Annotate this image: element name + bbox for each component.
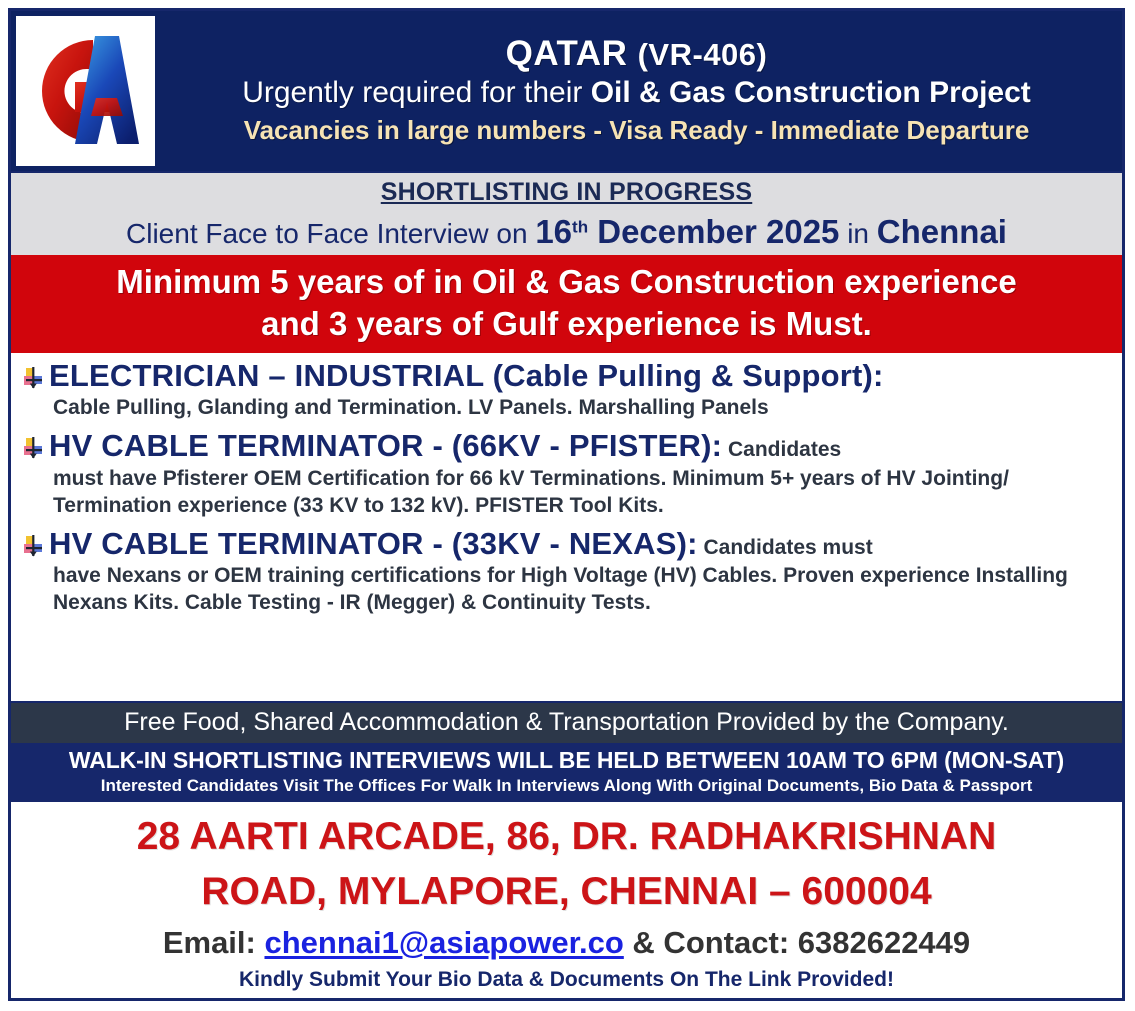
- phone-number: 6382622449: [798, 925, 970, 960]
- shortlisting-status: SHORTLISTING IN PROGRESS: [11, 178, 1122, 207]
- submission-tagline: Kindly Submit Your Bio Data & Documents …: [19, 967, 1114, 992]
- job-title-suffix: Candidates must: [698, 536, 873, 559]
- interview-in-word: in: [839, 218, 876, 249]
- email-link[interactable]: chennai1@asiapower.co: [264, 925, 623, 960]
- job-heading: HV CABLE TERMINATOR - (66KV - PFISTER): …: [23, 428, 1110, 465]
- header-text-block: QATAR (VR-406) Urgently required for the…: [161, 11, 1122, 171]
- job-title: HV CABLE TERMINATOR - (66KV - PFISTER):: [49, 428, 722, 463]
- interview-prefix: Client Face to Face Interview on: [126, 218, 535, 249]
- job-advertisement-poster: QATAR (VR-406) Urgently required for the…: [8, 8, 1125, 1001]
- job-title-suffix: Candidates: [722, 438, 841, 461]
- requirement-line-2: and 3 years of Gulf experience is Must.: [21, 303, 1112, 344]
- subtitle-project: Oil & Gas Construction Project: [591, 76, 1031, 109]
- address-line-1: 28 AARTI ARCADE, 86, DR. RADHAKRISHNAN: [19, 810, 1114, 865]
- requirement-banner: Minimum 5 years of in Oil & Gas Construc…: [11, 255, 1122, 353]
- phone-label: & Contact:: [624, 925, 798, 960]
- requirement-line-1: Minimum 5 years of in Oil & Gas Construc…: [21, 261, 1112, 302]
- logo-container: [11, 11, 161, 171]
- ga-monogram-logo-icon: [23, 20, 149, 162]
- country-name: QATAR: [506, 34, 628, 73]
- header-country-line: QATAR (VR-406): [506, 36, 768, 73]
- walkin-bar: WALK-IN SHORTLISTING INTERVIEWS WILL BE …: [11, 743, 1122, 803]
- job-heading: ELECTRICIAN – INDUSTRIAL (Cable Pulling …: [23, 358, 1110, 395]
- walkin-timing-text: WALK-IN SHORTLISTING INTERVIEWS WILL BE …: [15, 747, 1118, 773]
- header-highlights: Vacancies in large numbers - Visa Ready …: [244, 116, 1030, 145]
- job-listing-item: ELECTRICIAN – INDUSTRIAL (Cable Pulling …: [23, 358, 1110, 422]
- contact-details: Email: chennai1@asiapower.co & Contact: …: [11, 922, 1122, 998]
- job-title: ELECTRICIAN – INDUSTRIAL (Cable Pulling …: [49, 358, 884, 393]
- email-label: Email:: [163, 925, 265, 960]
- job-description: Cable Pulling, Glanding and Termination.…: [53, 395, 1110, 422]
- job-heading: HV CABLE TERMINATOR - (33KV - NEXAS): Ca…: [23, 526, 1110, 563]
- job-listing-item: HV CABLE TERMINATOR - (66KV - PFISTER): …: [23, 428, 1110, 519]
- colored-arrow-bullet-icon: [23, 437, 45, 459]
- job-listing-item: HV CABLE TERMINATOR - (33KV - NEXAS): Ca…: [23, 526, 1110, 617]
- subtitle-prefix: Urgently required for their: [242, 76, 591, 109]
- interview-ordinal: th: [572, 217, 588, 236]
- job-description: must have Pfisterer OEM Certification fo…: [53, 466, 1110, 520]
- walkin-instructions-text: Interested Candidates Visit The Offices …: [15, 776, 1118, 796]
- logo-plate: [16, 16, 155, 166]
- benefits-text: Free Food, Shared Accommodation & Transp…: [124, 708, 1009, 736]
- colored-arrow-bullet-icon: [23, 367, 45, 389]
- colored-arrow-bullet-icon: [23, 535, 45, 557]
- benefits-bar: Free Food, Shared Accommodation & Transp…: [11, 701, 1122, 743]
- notice-band: SHORTLISTING IN PROGRESS Client Face to …: [11, 173, 1122, 255]
- address-line-2: ROAD, MYLAPORE, CHENNAI – 600004: [19, 865, 1114, 920]
- interview-city: Chennai: [877, 213, 1007, 250]
- interview-month-year: December 2025: [588, 213, 839, 250]
- header-subtitle: Urgently required for their Oil & Gas Co…: [242, 76, 1031, 110]
- poster-header: QATAR (VR-406) Urgently required for the…: [11, 11, 1122, 173]
- reference-code: (VR-406): [638, 37, 768, 72]
- interview-day: 16: [535, 213, 572, 250]
- office-address: 28 AARTI ARCADE, 86, DR. RADHAKRISHNAN R…: [11, 802, 1122, 921]
- contact-line: Email: chennai1@asiapower.co & Contact: …: [19, 924, 1114, 961]
- interview-date-line: Client Face to Face Interview on 16th De…: [11, 212, 1122, 252]
- job-title: HV CABLE TERMINATOR - (33KV - NEXAS):: [49, 526, 698, 561]
- job-description: have Nexans or OEM training certificatio…: [53, 563, 1110, 617]
- job-listings: ELECTRICIAN – INDUSTRIAL (Cable Pulling …: [11, 353, 1122, 701]
